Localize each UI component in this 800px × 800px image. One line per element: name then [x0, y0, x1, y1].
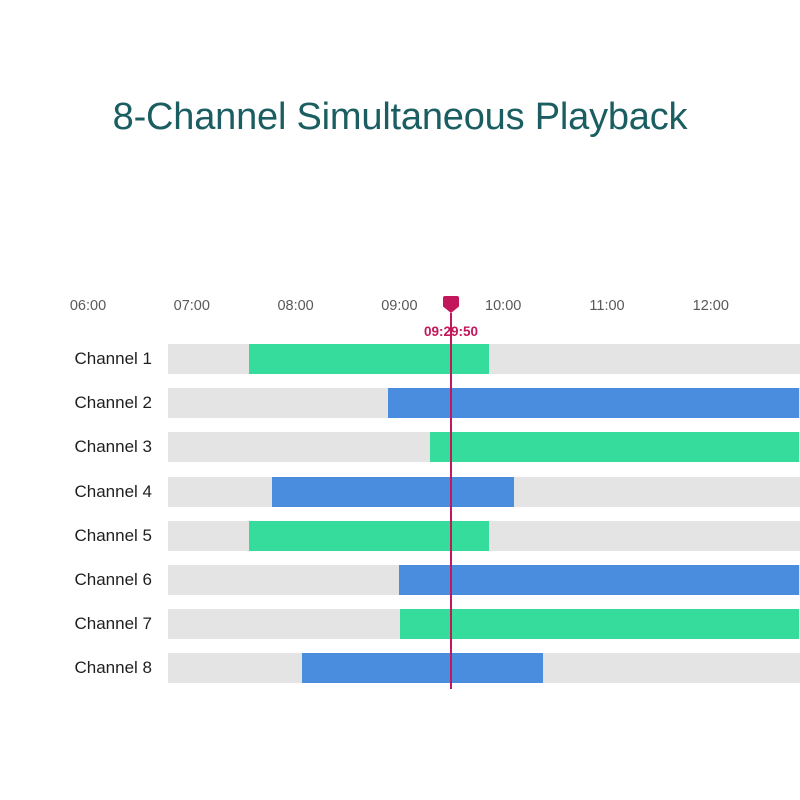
playhead-pin-icon[interactable]	[443, 296, 459, 313]
channel-label-2: Channel 2	[0, 388, 152, 418]
axis-tick-0800: 08:00	[277, 297, 313, 315]
recording-segment-channel-5[interactable]	[249, 521, 489, 551]
channel-label-1: Channel 1	[0, 344, 152, 374]
recording-segment-channel-8[interactable]	[302, 653, 543, 683]
channel-label-3: Channel 3	[0, 432, 152, 462]
channel-label-6: Channel 6	[0, 565, 152, 595]
screenshot-root: 8-Channel Simultaneous Playback 06:0007:…	[0, 0, 800, 800]
axis-tick-0900: 09:00	[381, 297, 417, 315]
channel-label-4: Channel 4	[0, 477, 152, 507]
recording-segment-channel-4[interactable]	[272, 477, 514, 507]
playhead-time-label: 09:29:50	[424, 324, 478, 340]
axis-tick-1000: 10:00	[485, 297, 521, 315]
playhead-line[interactable]	[450, 313, 452, 689]
axis-tick-1100: 11:00	[589, 297, 624, 315]
recording-segment-channel-7[interactable]	[400, 609, 799, 639]
channel-label-5: Channel 5	[0, 521, 152, 551]
channel-label-7: Channel 7	[0, 609, 152, 639]
recording-segment-channel-6[interactable]	[399, 565, 799, 595]
axis-tick-0600: 06:00	[70, 297, 106, 315]
recording-segment-channel-3[interactable]	[430, 432, 800, 462]
playback-timeline: 06:0007:0008:0009:0010:0011:0012:00Chann…	[0, 0, 800, 800]
channel-label-8: Channel 8	[0, 653, 152, 683]
axis-tick-0700: 07:00	[174, 297, 210, 315]
axis-tick-1200: 12:00	[693, 297, 729, 315]
recording-segment-channel-1[interactable]	[249, 344, 489, 374]
